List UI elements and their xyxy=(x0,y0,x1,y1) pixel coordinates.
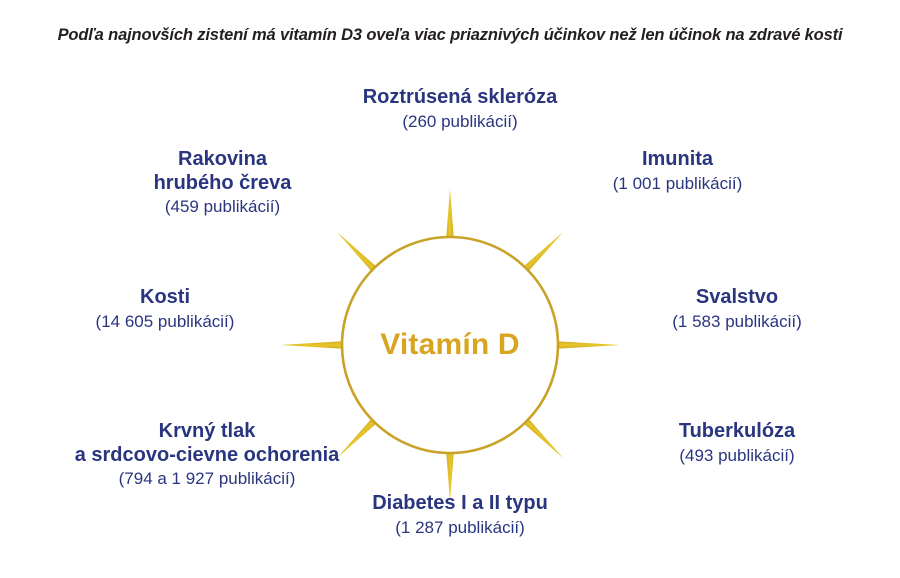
label-imunita: Imunita (1 001 publikácií) xyxy=(545,148,810,194)
label-count: (794 a 1 927 publikácií) xyxy=(22,469,392,489)
label-count: (1 583 publikácií) xyxy=(612,312,862,332)
label-name-line1: Rakovina xyxy=(90,148,355,172)
label-count: (459 publikácií) xyxy=(90,197,355,217)
label-svalstvo: Svalstvo (1 583 publikácií) xyxy=(612,286,862,332)
label-name: Roztrúsená skleróza xyxy=(310,86,610,110)
label-rakovina-hrubeho-creva: Rakovina hrubého čreva (459 publikácií) xyxy=(90,148,355,217)
label-count: (1 001 publikácií) xyxy=(545,174,810,194)
page-title: Podľa najnovších zistení má vitamín D3 o… xyxy=(0,26,900,45)
label-count: (14 605 publikácií) xyxy=(40,312,290,332)
label-tuberkuloza: Tuberkulóza (493 publikácií) xyxy=(612,420,862,466)
label-kosti: Kosti (14 605 publikácií) xyxy=(40,286,290,332)
infographic-page: Podľa najnovších zistení má vitamín D3 o… xyxy=(0,0,900,578)
label-name: Svalstvo xyxy=(612,286,862,310)
label-diabetes: Diabetes I a II typu (1 287 publikácií) xyxy=(310,492,610,538)
label-name-line1: Krvný tlak xyxy=(22,420,392,444)
label-name: Kosti xyxy=(40,286,290,310)
label-name: Tuberkulóza xyxy=(612,420,862,444)
label-krvny-tlak: Krvný tlak a srdcovo-cievne ochorenia (7… xyxy=(22,420,392,489)
label-count: (260 publikácií) xyxy=(310,112,610,132)
label-name: Imunita xyxy=(545,148,810,172)
label-name-line2: hrubého čreva xyxy=(90,172,355,196)
label-roztrusena-skleroza: Roztrúsená skleróza (260 publikácií) xyxy=(310,86,610,132)
label-count: (493 publikácií) xyxy=(612,446,862,466)
label-count: (1 287 publikácií) xyxy=(310,518,610,538)
label-name: Diabetes I a II typu xyxy=(310,492,610,516)
label-name-line2: a srdcovo-cievne ochorenia xyxy=(22,444,392,468)
